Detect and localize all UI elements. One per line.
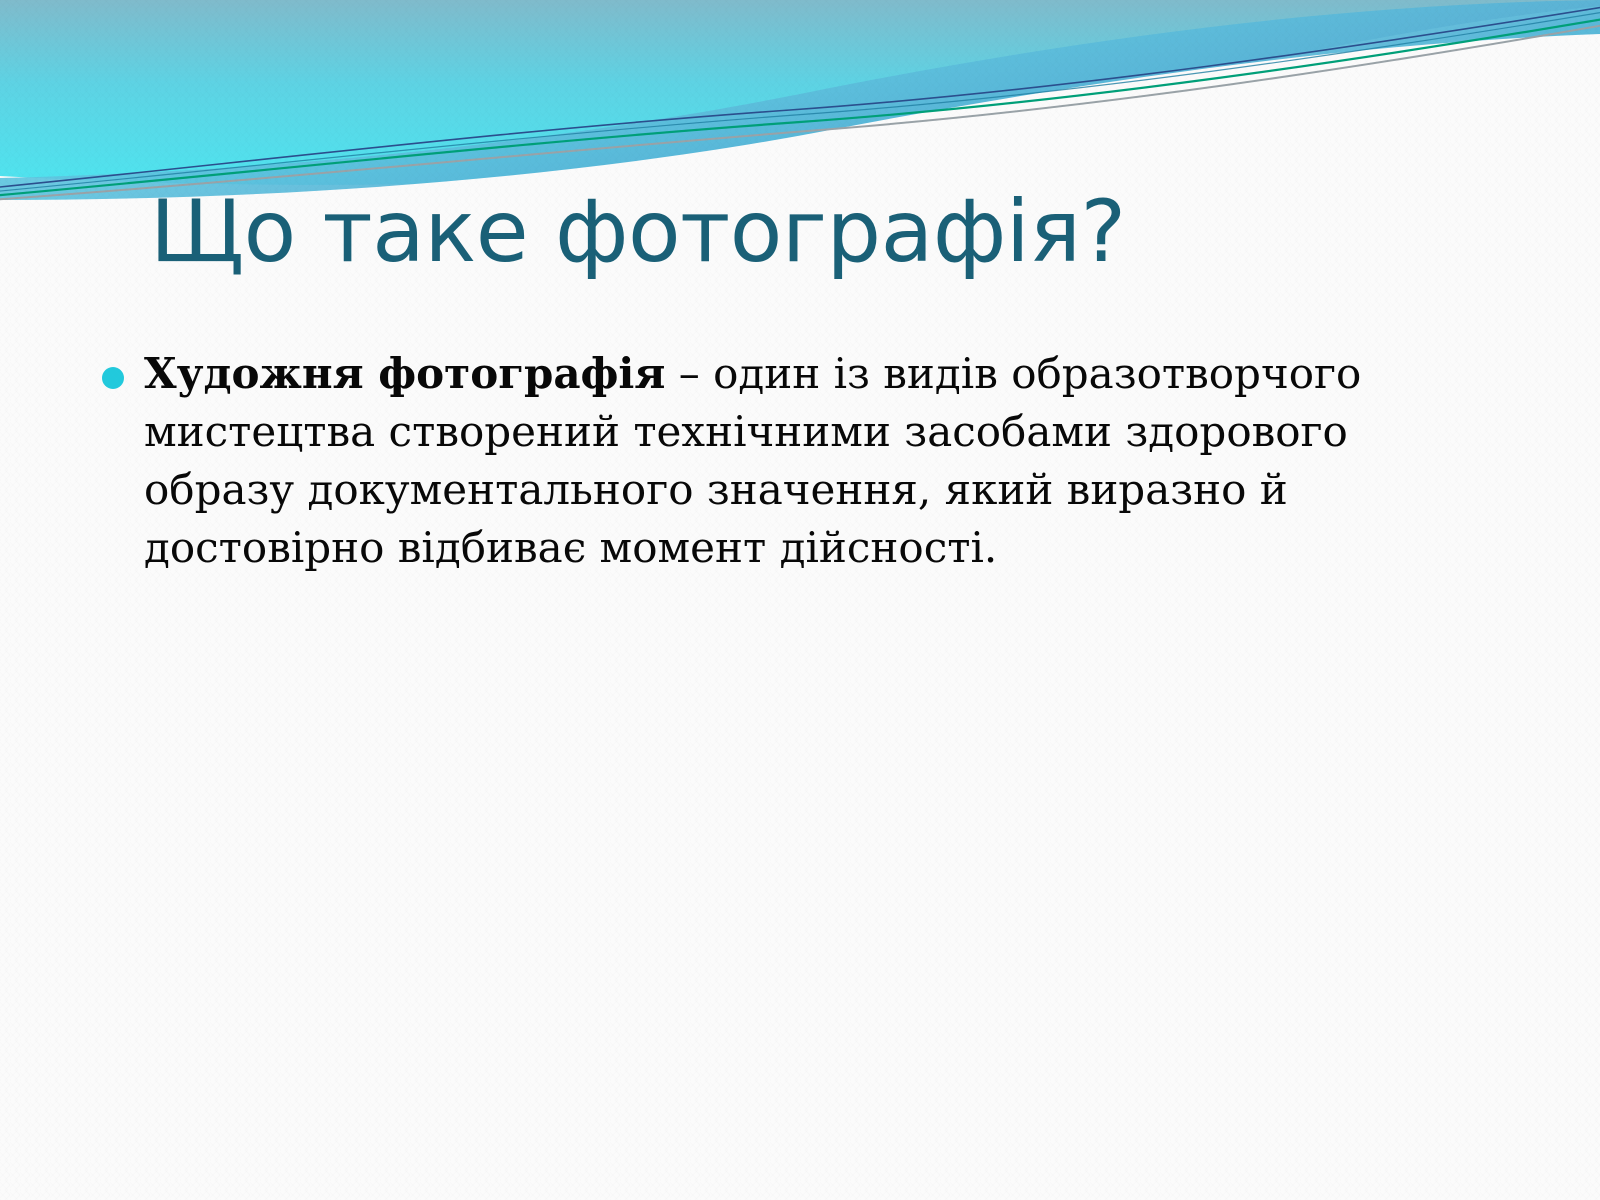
bullet-lead-term: Художня фотографія — [144, 349, 665, 398]
decorative-wave-band — [0, 0, 1600, 210]
slide-body-list: Художня фотографія – один із видів образ… — [88, 345, 1388, 577]
bullet-list-item: Художня фотографія – один із видів образ… — [88, 345, 1388, 577]
filled-circle-bullet-icon — [102, 367, 124, 389]
presentation-slide: Що таке фотографія? Художня фотографія –… — [0, 0, 1600, 1200]
bullet-text: Художня фотографія – один із видів образ… — [144, 349, 1361, 572]
slide-title: Що таке фотографія? — [150, 186, 1480, 279]
